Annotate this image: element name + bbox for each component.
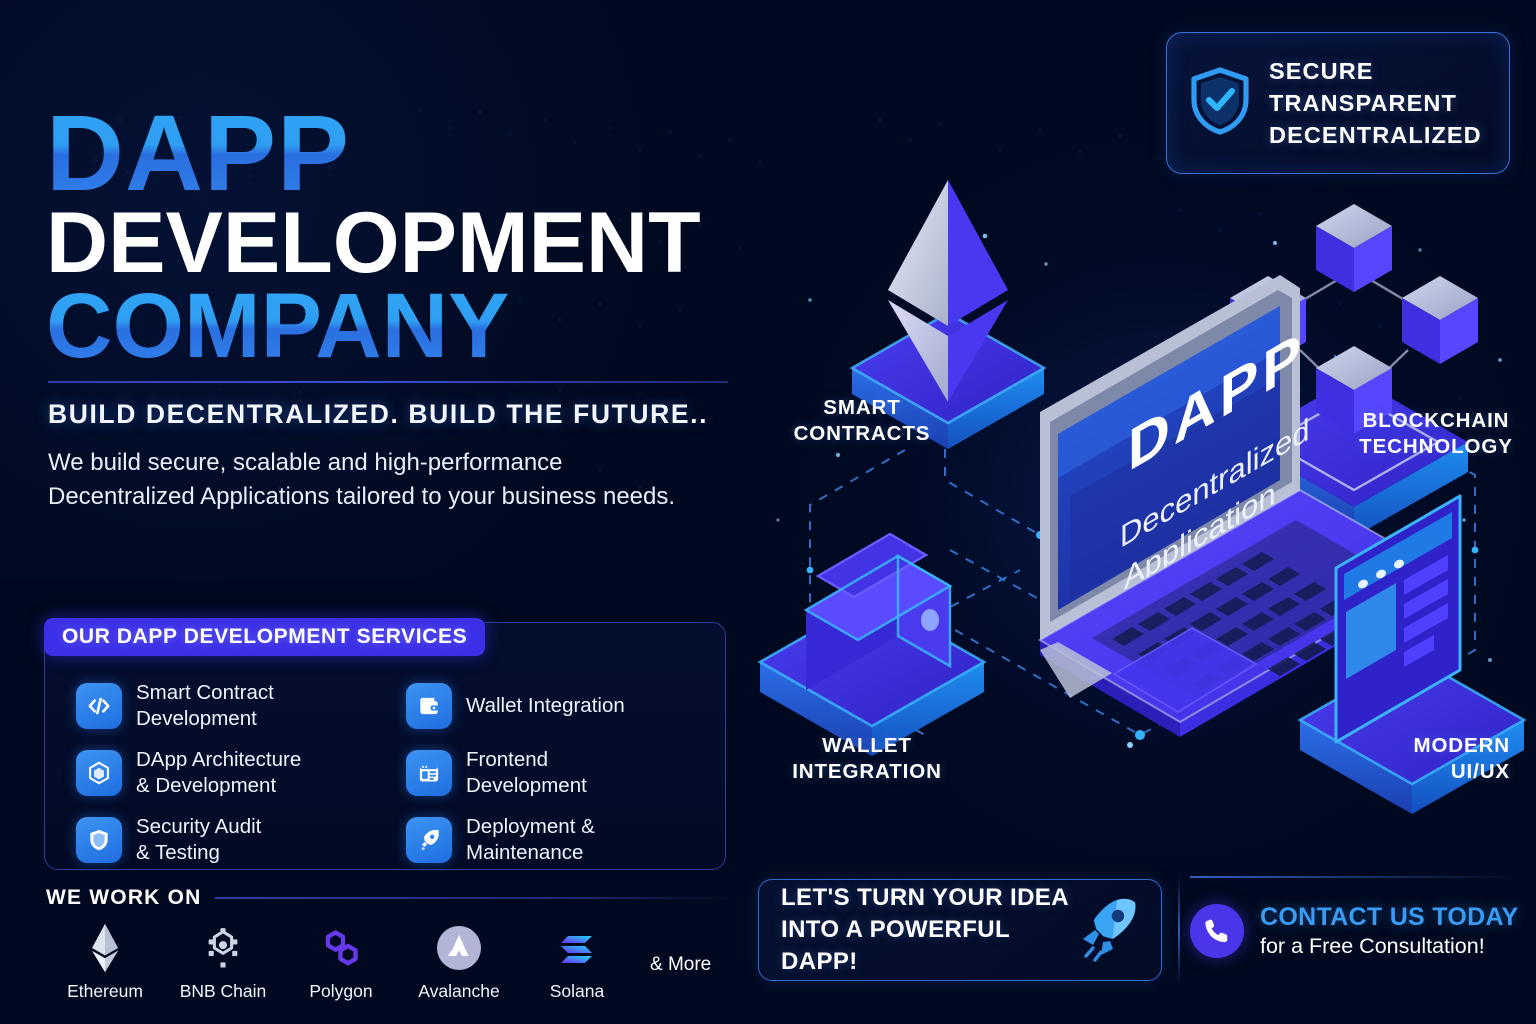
shield-check-icon (1189, 66, 1251, 141)
cta-left-line-1: LET'S TURN YOUR IDEA (781, 882, 1077, 914)
hero-text-block: DAPP DEVELOPMENT COMPANY BUILD DECENTRAL… (46, 104, 746, 515)
service-label-line-2: Maintenance (466, 840, 595, 865)
rocket-icon (1077, 894, 1139, 967)
service-item-wallet-integration[interactable]: Wallet Integration (406, 672, 726, 739)
service-label-line-1: Smart Contract (136, 680, 274, 705)
headline-line-3: COMPANY (46, 285, 746, 368)
service-item-security-audit[interactable]: Security Audit & Testing (76, 806, 406, 873)
service-label: Frontend Development (466, 747, 587, 798)
browser-icon (406, 750, 452, 796)
isometric-illustration: DAPP Decentralized Application (740, 150, 1536, 850)
service-label-line-1: Deployment & (466, 814, 595, 839)
cta-contact-headline: CONTACT US TODAY (1260, 903, 1519, 932)
cta-left-line-2: INTO A POWERFUL DAPP! (781, 914, 1077, 977)
node-label-blockchain-technology: BLOCKCHAIN TECHNOLOGY (1336, 408, 1536, 460)
service-label-line-2: & Development (136, 773, 301, 798)
service-label-line-1: Security Audit (136, 814, 261, 839)
chain-item-ethereum[interactable]: Ethereum (46, 922, 164, 1002)
phone-icon (1190, 904, 1244, 958)
we-work-on-header: WE WORK ON (46, 886, 736, 910)
chain-item-bnb-chain[interactable]: BNB Chain (164, 922, 282, 1002)
cube-icon (76, 750, 122, 796)
we-work-on-section: WE WORK ON Ethereum (46, 886, 736, 1002)
cta-contact-text: CONTACT US TODAY for a Free Consultation… (1260, 903, 1519, 959)
service-label-line-2: Development (136, 706, 274, 731)
services-grid: Smart Contract Development Wallet Integr… (76, 672, 726, 873)
description-text: We build secure, scalable and high-perfo… (48, 446, 746, 514)
service-item-smart-contract-development[interactable]: Smart Contract Development (76, 672, 406, 739)
chain-item-avalanche[interactable]: Avalanche (400, 922, 518, 1002)
service-label: Smart Contract Development (136, 680, 274, 731)
chain-logo-row: Ethereum (46, 922, 736, 1002)
solana-logo (552, 922, 602, 974)
infographic-canvas: DAPP DEVELOPMENT COMPANY BUILD DECENTRAL… (0, 0, 1536, 1024)
cta-left-text: LET'S TURN YOUR IDEA INTO A POWERFUL DAP… (781, 882, 1077, 977)
service-item-frontend-development[interactable]: Frontend Development (406, 739, 726, 806)
ethereum-logo (87, 922, 123, 974)
chain-name: Solana (550, 981, 605, 1002)
status-badge-line-2: TRANSPARENT (1269, 90, 1482, 117)
node-label-line-1: WALLET (762, 733, 972, 759)
chain-name: Avalanche (418, 981, 499, 1002)
code-icon (76, 683, 122, 729)
bnb-chain-logo (200, 922, 246, 974)
chain-item-solana[interactable]: Solana (518, 922, 636, 1002)
rocket-icon (406, 817, 452, 863)
services-heading-badge: OUR DAPP DEVELOPMENT SERVICES (44, 618, 485, 656)
service-label-line-2: & Testing (136, 840, 261, 865)
chain-name: Ethereum (67, 981, 143, 1002)
service-label-line-2: Development (466, 773, 587, 798)
status-badge-text: SECURE TRANSPARENT DECENTRALIZED (1269, 58, 1482, 149)
avalanche-logo (434, 922, 484, 974)
service-label-line-1: Frontend (466, 747, 587, 772)
service-label: Wallet Integration (466, 693, 625, 718)
node-label-line-2: INTEGRATION (762, 759, 972, 785)
node-label-line-2: TECHNOLOGY (1336, 434, 1536, 460)
wallet-3d-icon (760, 534, 984, 756)
wallet-icon (406, 683, 452, 729)
description-line-1: We build secure, scalable and high-perfo… (48, 446, 746, 480)
polygon-logo (317, 922, 365, 974)
headline-line-1: DAPP (46, 104, 746, 201)
cta-divider (1178, 876, 1180, 984)
we-work-on-label: WE WORK ON (46, 886, 201, 910)
service-label-line-1: DApp Architecture (136, 747, 301, 772)
cta-contact-subline: for a Free Consultation! (1260, 934, 1519, 959)
status-badge-line-3: DECENTRALIZED (1269, 122, 1482, 149)
cta-contact-block[interactable]: CONTACT US TODAY for a Free Consultation… (1190, 893, 1520, 969)
service-item-dapp-architecture[interactable]: DApp Architecture & Development (76, 739, 406, 806)
cta-idea-button[interactable]: LET'S TURN YOUR IDEA INTO A POWERFUL DAP… (758, 879, 1162, 981)
we-work-on-rule (215, 897, 736, 899)
cta-top-rule (1190, 876, 1520, 878)
shield-icon (76, 817, 122, 863)
service-label: Security Audit & Testing (136, 814, 261, 865)
headline-line-2: DEVELOPMENT (46, 205, 746, 282)
and-more-label: & More (650, 954, 711, 976)
services-heading-label: OUR DAPP DEVELOPMENT SERVICES (62, 625, 467, 649)
service-label: Deployment & Maintenance (466, 814, 595, 865)
service-label-line-1: Wallet Integration (466, 693, 625, 718)
chain-name: Polygon (309, 981, 372, 1002)
node-label-modern-uiux: MODERN UI/UX (1210, 733, 1510, 785)
chain-name: BNB Chain (180, 981, 267, 1002)
node-label-wallet-integration: WALLET INTEGRATION (762, 733, 972, 785)
status-badge-line-1: SECURE (1269, 58, 1482, 85)
headline-divider (48, 381, 728, 383)
node-label-line-2: UI/UX (1210, 759, 1510, 785)
node-label-line-1: BLOCKCHAIN (1336, 408, 1536, 434)
node-label-line-1: SMART (772, 395, 952, 421)
chain-item-polygon[interactable]: Polygon (282, 922, 400, 1002)
description-line-2: Decentralized Applications tailored to y… (48, 480, 746, 514)
page-title: DAPP DEVELOPMENT COMPANY (46, 104, 746, 367)
node-label-smart-contracts: SMART CONTRACTS (772, 395, 952, 447)
node-label-line-2: CONTRACTS (772, 421, 952, 447)
node-label-line-1: MODERN (1210, 733, 1510, 759)
service-item-deployment-maintenance[interactable]: Deployment & Maintenance (406, 806, 726, 873)
tagline: BUILD DECENTRALIZED. BUILD THE FUTURE.. (48, 399, 746, 430)
service-label: DApp Architecture & Development (136, 747, 301, 798)
